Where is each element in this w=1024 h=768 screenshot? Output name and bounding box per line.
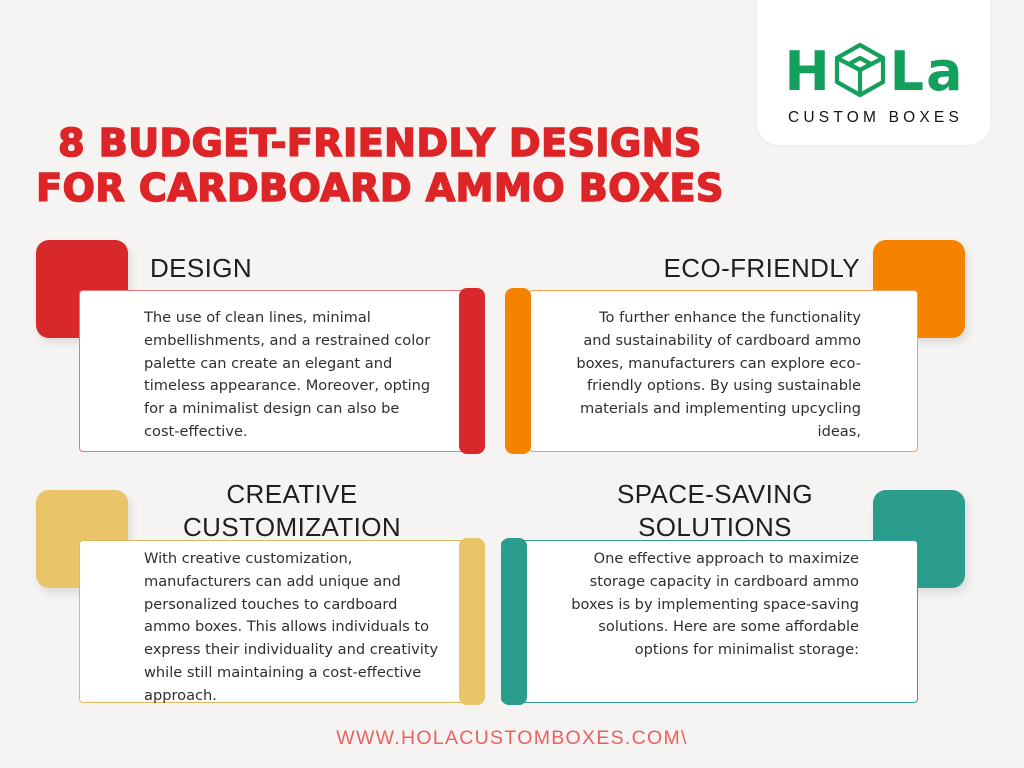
accent-bar-design xyxy=(459,288,485,454)
card-title-creative-customization: CREATIVE CUSTOMIZATION xyxy=(142,478,442,544)
logo-letter-l: L xyxy=(890,45,924,99)
card-title-space-saving-solutions: SPACE-SAVING SOLUTIONS xyxy=(570,478,860,544)
logo-tagline: CUSTOM BOXES xyxy=(784,109,963,127)
card-body-text-eco-friendly: To further enhance the functionality and… xyxy=(571,307,861,444)
card-title-eco-friendly: ECO-FRIENDLY xyxy=(560,252,860,285)
card-body-text-creative-customization: With creative customization, manufacture… xyxy=(144,548,444,708)
card-body-design: The use of clean lines, minimal embellis… xyxy=(79,290,483,452)
cube-box-icon xyxy=(833,42,887,102)
logo-letter-a: a xyxy=(926,45,962,99)
card-body-creative-customization: With creative customization, manufacture… xyxy=(79,540,483,703)
logo-letter-h: H xyxy=(784,45,829,99)
accent-bar-space-saving-solutions xyxy=(501,538,527,705)
card-body-eco-friendly: To further enhance the functionality and… xyxy=(529,290,918,452)
page-title: 8 BUDGET-FRIENDLY DESIGNS FOR CARDBOARD … xyxy=(10,121,750,210)
accent-bar-eco-friendly xyxy=(505,288,531,454)
card-body-text-design: The use of clean lines, minimal embellis… xyxy=(144,307,436,444)
card-body-text-space-saving-solutions: One effective approach to maximize stora… xyxy=(563,548,859,662)
footer-website-url[interactable]: WWW.HOLACUSTOMBOXES.COM\ xyxy=(0,727,1024,750)
card-body-space-saving-solutions: One effective approach to maximize stora… xyxy=(501,540,918,703)
brand-logo-card: H L a CUSTOM BOXES xyxy=(757,0,990,145)
accent-bar-creative-customization xyxy=(459,538,485,705)
card-title-design: DESIGN xyxy=(150,252,252,285)
logo-wordmark: H L a xyxy=(784,44,962,100)
